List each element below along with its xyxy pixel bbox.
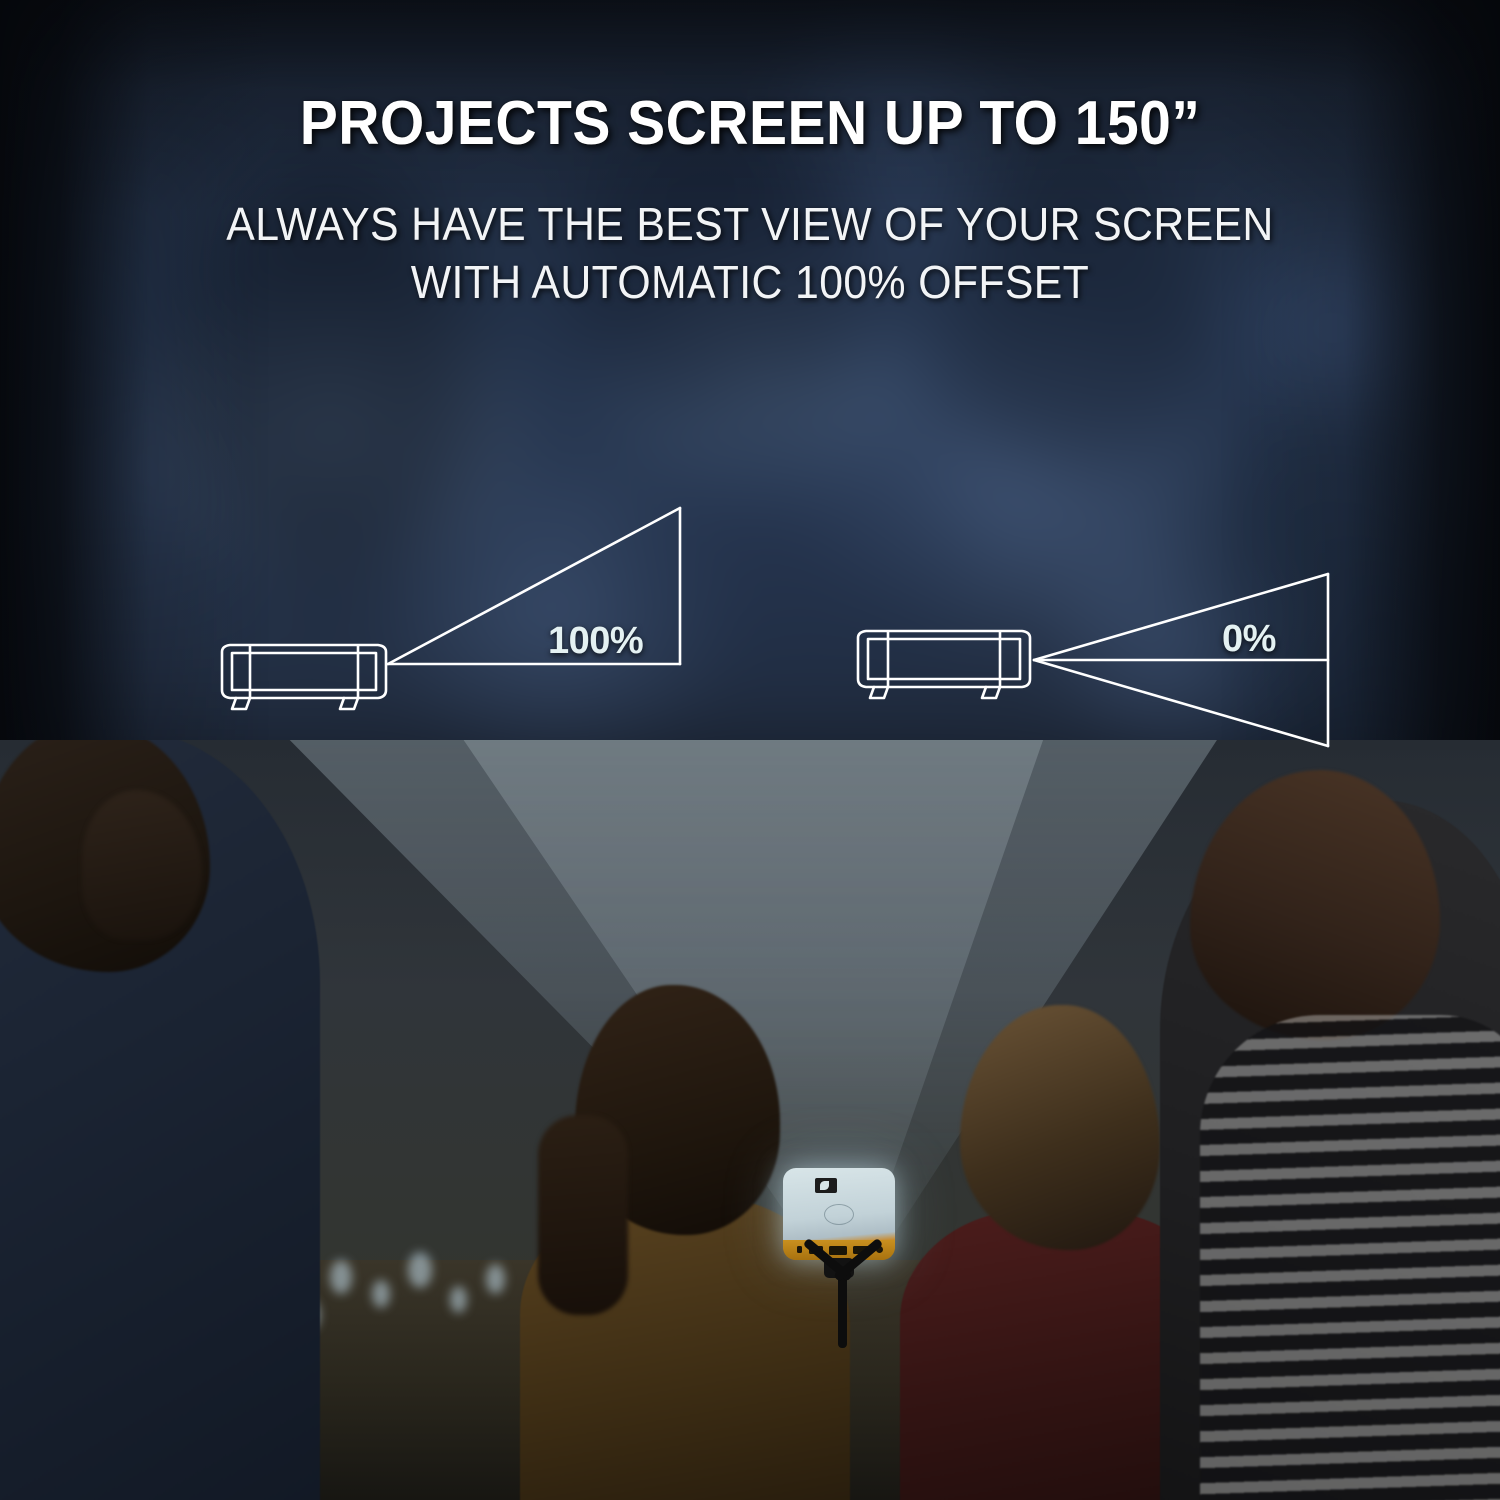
- kodak-logo-icon: [815, 1178, 837, 1193]
- bokeh-light: [372, 1280, 390, 1308]
- product-feature-image: 100% 0% PROJECTS SCREEN UP TO 150” ALWAY…: [0, 0, 1500, 1500]
- braid: [538, 1115, 628, 1315]
- offset-label-100: 100%: [548, 620, 643, 663]
- striped-shirt: [1200, 1015, 1500, 1500]
- subtitle-line-1: ALWAYS HAVE THE BEST VIEW OF YOUR SCREEN: [53, 196, 1448, 254]
- bokeh-light: [408, 1252, 432, 1288]
- bokeh-light: [486, 1264, 505, 1294]
- bokeh-light: [450, 1286, 467, 1313]
- room-scene: [0, 740, 1500, 1500]
- page-title: PROJECTS SCREEN UP TO 150”: [60, 88, 1440, 159]
- right-projector-icon: [858, 631, 1030, 698]
- tripod-leg: [838, 1272, 847, 1348]
- left-projector-icon: [222, 645, 386, 709]
- right-centered-beam: [1034, 574, 1328, 746]
- subtitle: ALWAYS HAVE THE BEST VIEW OF YOUR SCREEN…: [53, 196, 1448, 311]
- subtitle-line-2: WITH AUTOMATIC 100% OFFSET: [53, 254, 1448, 312]
- port: [829, 1246, 847, 1255]
- port: [797, 1246, 802, 1253]
- focus-dial-icon: [824, 1204, 854, 1225]
- bokeh-light: [330, 1260, 352, 1294]
- offset-label-0: 0%: [1222, 618, 1276, 661]
- woman-left-silhouette: [0, 740, 320, 1500]
- woman-right-silhouette: [1160, 800, 1500, 1500]
